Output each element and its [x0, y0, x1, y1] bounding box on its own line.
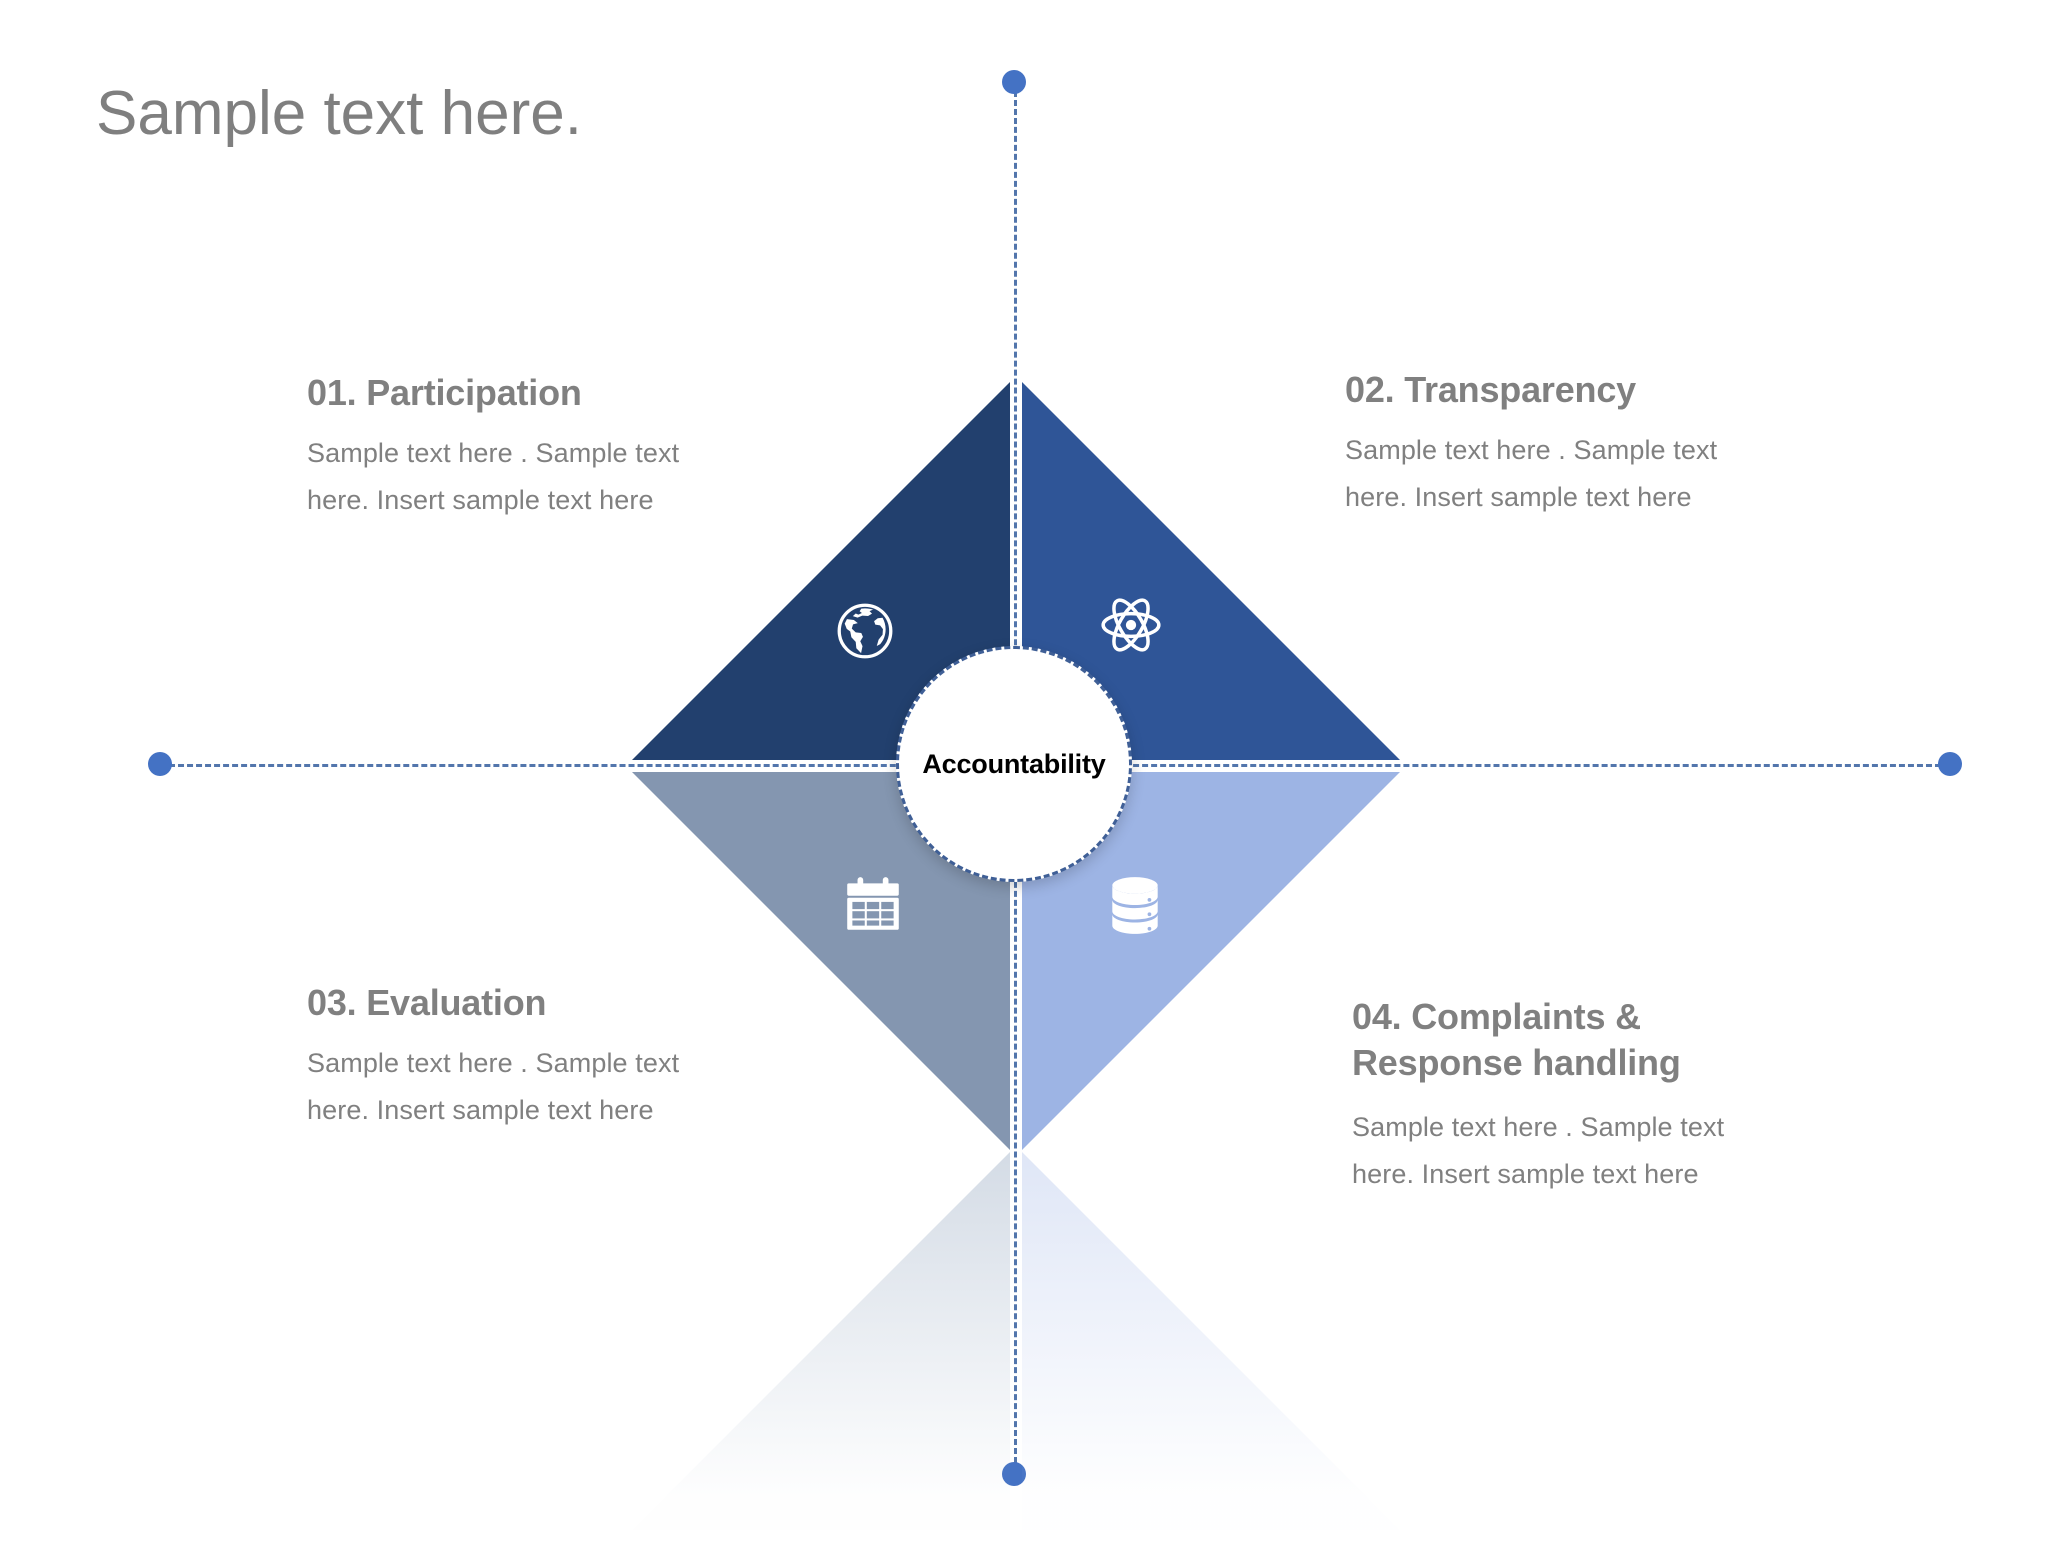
section-body-line-2: here. Insert sample text here [307, 1087, 807, 1133]
slide-canvas: Sample text here. [0, 0, 2048, 1536]
section-transparency: 02. Transparency Sample text here . Samp… [1345, 367, 1845, 520]
section-heading: 02. Transparency [1345, 367, 1845, 413]
reflection-triangle-3 [632, 1152, 1010, 1530]
section-body-line-1: Sample text here . Sample text [1345, 427, 1845, 473]
guide-dot-top-icon [1002, 70, 1026, 94]
section-body-line-2: here. Insert sample text here [1345, 474, 1845, 520]
calendar-icon [840, 872, 906, 938]
section-heading: 01. Participation [307, 370, 807, 416]
section-participation: 01. Participation Sample text here . Sam… [307, 370, 807, 523]
reflection-triangle-4 [1022, 1152, 1400, 1530]
section-body-line-2: here. Insert sample text here [1352, 1151, 1852, 1197]
section-heading: 04. Complaints & Response handling [1352, 994, 1852, 1086]
section-body-line-1: Sample text here . Sample text [307, 430, 807, 476]
section-body-line-1: Sample text here . Sample text [307, 1040, 807, 1086]
guide-dot-right-icon [1938, 752, 1962, 776]
section-heading-line-2: Response handling [1352, 1042, 1681, 1083]
globe-icon [832, 598, 898, 664]
section-evaluation: 03. Evaluation Sample text here . Sample… [307, 980, 807, 1133]
center-label: Accountability [922, 749, 1105, 780]
guide-dot-bottom-icon [1002, 1462, 1026, 1486]
guide-dot-left-icon [148, 752, 172, 776]
section-heading: 03. Evaluation [307, 980, 807, 1026]
page-title: Sample text here. [96, 78, 582, 149]
section-body-line-1: Sample text here . Sample text [1352, 1104, 1852, 1150]
section-heading-line-1: 04. Complaints & [1352, 996, 1641, 1037]
atom-icon [1098, 592, 1164, 658]
database-icon [1102, 872, 1168, 938]
center-hub[interactable]: Accountability [896, 646, 1132, 882]
section-body-line-2: here. Insert sample text here [307, 477, 807, 523]
section-complaints: 04. Complaints & Response handling Sampl… [1352, 994, 1852, 1197]
